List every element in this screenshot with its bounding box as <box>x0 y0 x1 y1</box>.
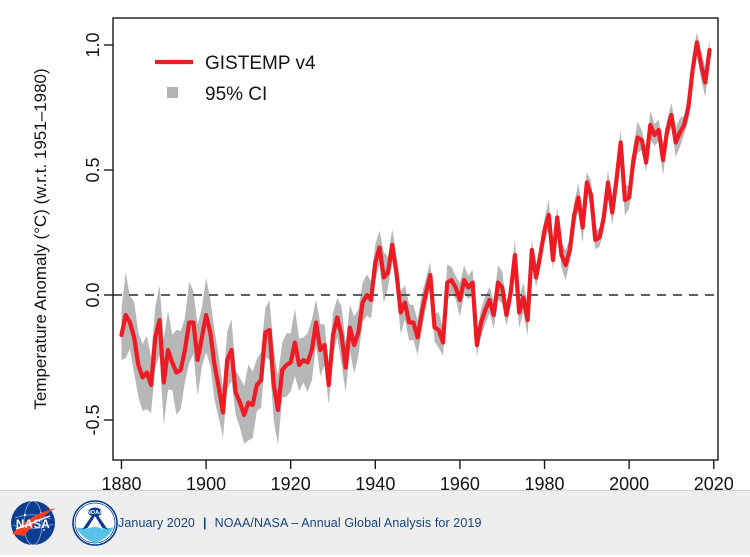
footer-analysis-caption: NOAA/NASA – Annual Global Analysis for 2… <box>215 516 482 530</box>
svg-text:NOAA: NOAA <box>87 510 103 516</box>
x-tick-label: 1960 <box>440 474 480 490</box>
footer-caption: January 2020 | NOAA/NASA – Annual Global… <box>118 491 482 555</box>
footer-separator: | <box>202 516 208 530</box>
x-tick-label: 2000 <box>609 474 649 490</box>
y-tick-label: 0.5 <box>83 157 103 182</box>
chart-container: 18801900192019401960198020002020 -0.50.0… <box>0 0 750 490</box>
footer-bar: NASA NOAA January 2020 | NOAA/NASA – Ann… <box>0 490 750 555</box>
legend-label-gistemp: GISTEMP v4 <box>205 53 316 74</box>
y-tick-label: 1.0 <box>83 32 103 57</box>
footer-date: January 2020 <box>118 516 195 530</box>
svg-text:NASA: NASA <box>16 519 50 531</box>
y-axis-title: Temperature Anomaly (°C) (w.r.t. 1951–19… <box>31 68 50 409</box>
x-tick-label: 1980 <box>525 474 565 490</box>
y-tick-label: 0.0 <box>83 282 103 307</box>
legend-label-ci: 95% CI <box>205 84 267 105</box>
nasa-logo: NASA <box>4 494 62 552</box>
x-tick-label: 2020 <box>694 474 734 490</box>
x-tick-label: 1880 <box>101 474 141 490</box>
x-tick-label: 1940 <box>355 474 395 490</box>
x-tick-label: 1900 <box>186 474 226 490</box>
footer-logos: NASA NOAA <box>4 494 124 552</box>
y-tick-label: -0.5 <box>83 404 103 435</box>
x-tick-label: 1920 <box>271 474 311 490</box>
legend-square-marker <box>167 87 178 98</box>
noaa-logo: NOAA <box>66 494 124 552</box>
temperature-anomaly-chart: 18801900192019401960198020002020 -0.50.0… <box>0 0 750 490</box>
